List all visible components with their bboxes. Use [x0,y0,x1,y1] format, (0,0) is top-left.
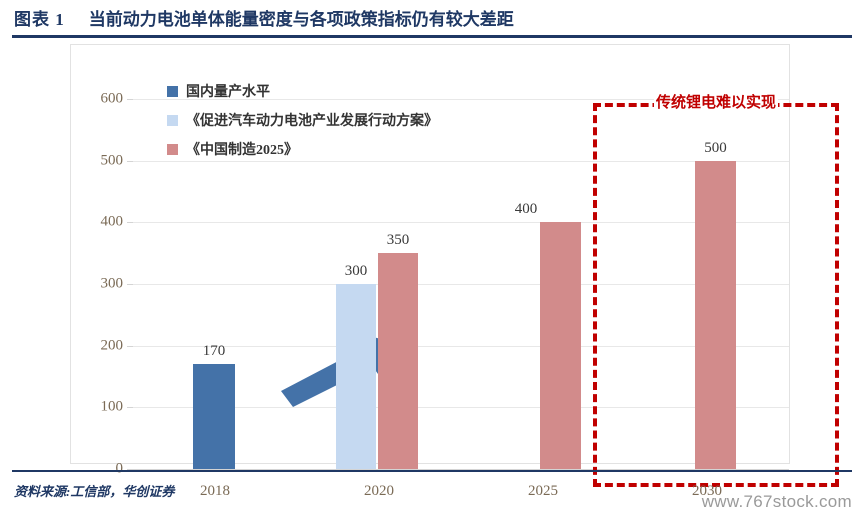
legend-swatch-icon [167,86,178,97]
bar-2020-action-plan[interactable]: 300 [336,284,376,469]
figure-header: 图表 1 当前动力电池单体能量密度与各项政策指标仍有较大差距 [0,0,864,35]
ytick-label: 600 [101,91,124,108]
annotation-label: 传统锂电难以实现 [654,91,778,112]
source-note: 资料来源:工信部，华创证券 [14,481,174,500]
footer-divider [12,470,852,472]
ytick-label: 200 [101,337,124,354]
legend-item-domestic: 国内量产水平 [167,81,438,101]
xtick-label-2025: 2025 [528,483,558,500]
bar-value-label: 300 [345,263,368,280]
ytick-label: 300 [101,276,124,293]
ytick-label: 0 [116,461,124,478]
legend-label: 国内量产水平 [186,81,270,101]
ytick-mark-600 [127,99,133,100]
watermark: www.767stock.com [702,492,852,512]
bar-value-label: 400 [515,201,538,218]
plot-area: 600 500 400 300 200 100 0 传统锂电难以实现 [133,99,789,469]
ytick-mark-400 [127,222,133,223]
bar-2018-domestic[interactable]: 170 [193,364,235,469]
gridline-400 [133,222,789,223]
ytick-mark-300 [127,284,133,285]
ytick-mark-200 [127,346,133,347]
bar-value-label: 350 [387,232,410,249]
ytick-mark-100 [127,407,133,408]
gridline-500 [133,161,789,162]
ytick-mark-500 [127,161,133,162]
gridline-300 [133,284,789,285]
xtick-label-2020: 2020 [364,483,394,500]
bar-2020-made-in-china[interactable]: 350 [378,253,418,469]
page-title: 当前动力电池单体能量密度与各项政策指标仍有较大差距 [89,5,514,30]
figure-page: 图表 1 当前动力电池单体能量密度与各项政策指标仍有较大差距 国内量产水平 《促… [0,0,864,526]
bar-2025-made-in-china[interactable]: 400 [540,222,581,469]
ytick-label: 100 [101,399,124,416]
bar-2030-made-in-china[interactable]: 500 [695,161,736,469]
header-divider [12,35,852,38]
chart-frame: 国内量产水平 《促进汽车动力电池产业发展行动方案》 《中国制造2025》 600… [70,44,790,464]
figure-label: 图表 1 [14,5,65,30]
bar-value-label: 500 [704,140,727,157]
gridline-200 [133,346,789,347]
ytick-label: 400 [101,214,124,231]
bar-value-label: 170 [203,343,226,360]
ytick-label: 500 [101,152,124,169]
xtick-label-2018: 2018 [200,483,230,500]
